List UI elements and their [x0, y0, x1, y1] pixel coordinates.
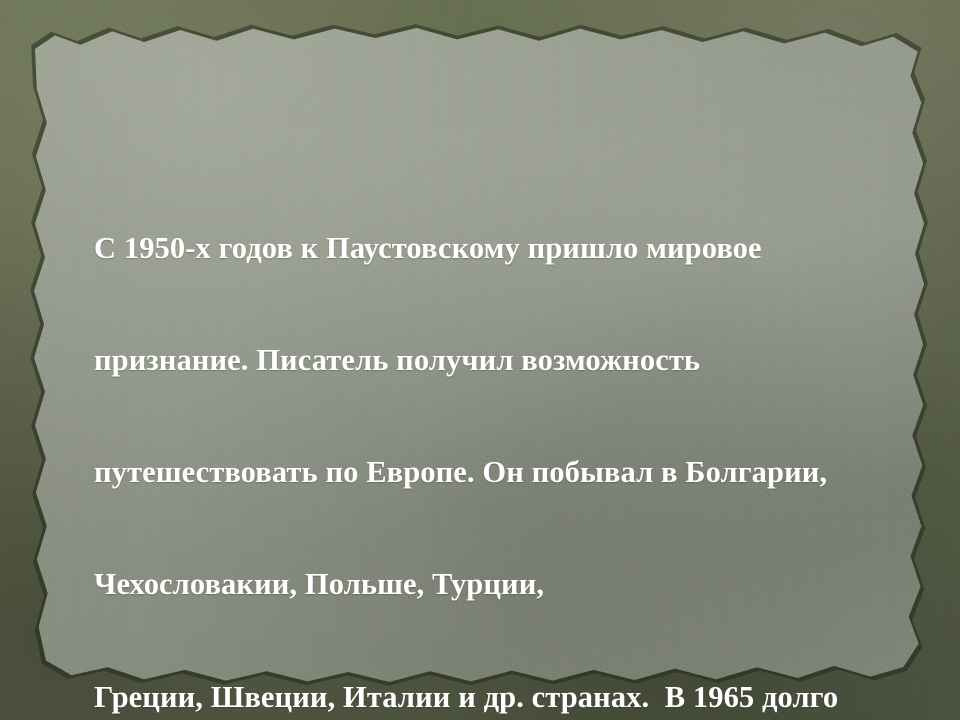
body-line: признание. Писатель получил возможность: [94, 342, 924, 379]
body-line: Чехословакии, Польше, Турции,: [94, 566, 924, 603]
torn-paper-panel: С 1950-х годов к Паустовскому пришло мир…: [26, 22, 934, 694]
slide-body-text: С 1950-х годов к Паустовскому пришло мир…: [94, 155, 924, 720]
body-line: С 1950-х годов к Паустовскому пришло мир…: [94, 230, 924, 267]
body-line: путешествовать по Европе. Он побывал в Б…: [94, 454, 924, 491]
body-line: Греции, Швеции, Италии и др. странах. В …: [94, 679, 924, 716]
slide-canvas: С 1950-х годов к Паустовскому пришло мир…: [0, 0, 960, 720]
